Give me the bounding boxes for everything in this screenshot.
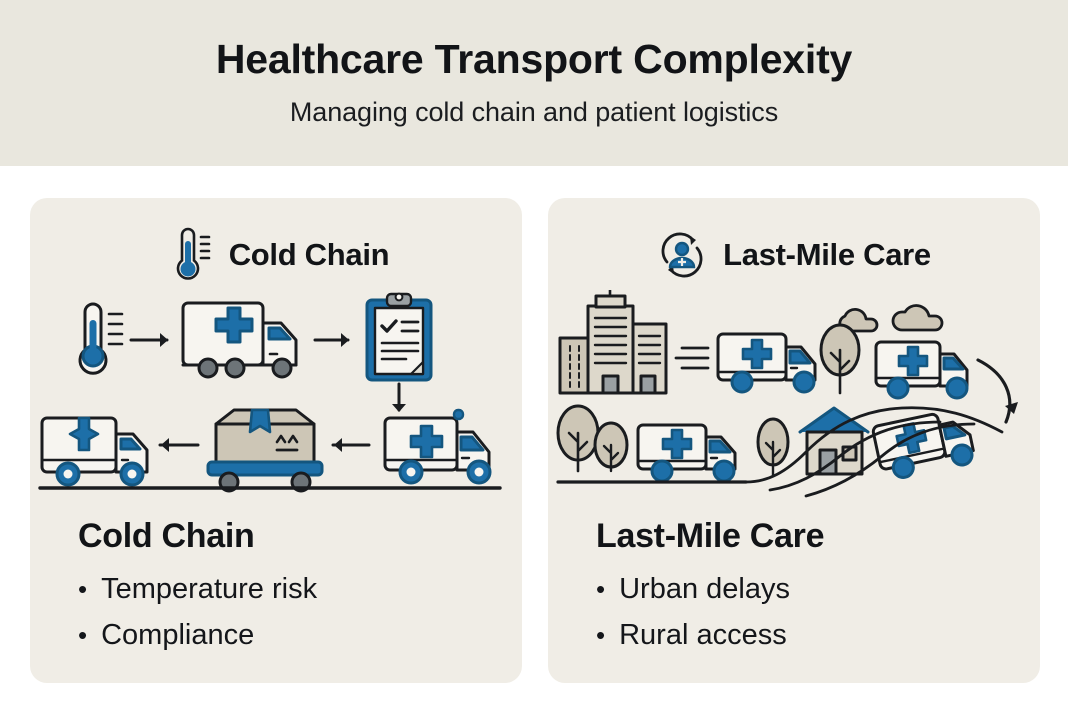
ambulance-icon [876, 342, 967, 398]
last-mile-illustration [548, 290, 1040, 502]
page-subtitle: Managing cold chain and patient logistic… [290, 97, 778, 128]
list-item: • Temperature risk [78, 567, 494, 613]
arrow-right-icon [315, 333, 349, 347]
ambulance-icon [638, 425, 735, 481]
city-buildings-icon [560, 290, 666, 393]
card-header-title: Last-Mile Care [723, 237, 931, 273]
page-title: Healthcare Transport Complexity [216, 38, 852, 81]
arrow-left-icon [160, 438, 198, 452]
card-header-title: Cold Chain [229, 237, 390, 273]
card-body-title: Last-Mile Care [596, 518, 1012, 555]
bullet-marker: • [78, 622, 87, 648]
list-item: • Rural access [596, 613, 1012, 659]
bullet-marker: • [596, 622, 605, 648]
card-cold-chain[interactable]: Cold Chain [30, 198, 522, 683]
speed-lines-icon [676, 348, 708, 368]
bullet-text: Rural access [619, 613, 787, 659]
bullet-marker: • [78, 576, 87, 602]
list-item: • Compliance [78, 613, 494, 659]
star-of-life-truck-icon [42, 418, 147, 485]
tree-icon [558, 406, 598, 471]
card-body-title: Cold Chain [78, 518, 494, 555]
thermometer-icon [163, 226, 213, 284]
ambulance-icon [872, 407, 976, 481]
ambulance-icon [385, 410, 490, 483]
bullet-marker: • [596, 576, 605, 602]
bullet-list: • Temperature risk • Compliance [78, 567, 494, 659]
page-header: Healthcare Transport Complexity Managing… [0, 0, 1068, 166]
tree-icon [758, 419, 788, 476]
curved-arrow-icon [978, 360, 1018, 422]
arrow-down-icon [392, 384, 406, 412]
bullet-list: • Urban delays • Rural access [596, 567, 1012, 659]
bullet-text: Urban delays [619, 567, 790, 613]
clipboard-check-icon [367, 294, 431, 380]
arrow-right-icon [131, 333, 168, 347]
patient-cycle-icon [657, 226, 707, 284]
package-on-cart-icon [208, 410, 322, 491]
card-last-mile-care[interactable]: Last-Mile Care [548, 198, 1040, 683]
cloud-icon [893, 306, 942, 330]
tree-icon [821, 325, 859, 393]
card-header-cold-chain: Cold Chain [30, 226, 522, 284]
thermometer-icon [80, 304, 122, 373]
ambulance-icon [718, 334, 815, 392]
cold-chain-illustration [30, 290, 522, 502]
list-item: • Urban delays [596, 567, 1012, 613]
bullet-text: Temperature risk [101, 567, 317, 613]
arrow-left-icon [333, 438, 369, 452]
cards-container: Cold Chain [0, 166, 1073, 720]
card-body-cold-chain: Cold Chain • Temperature risk • Complian… [78, 518, 494, 659]
tree-icon [595, 423, 627, 471]
card-header-last-mile-care: Last-Mile Care [548, 226, 1040, 284]
card-body-last-mile-care: Last-Mile Care • Urban delays • Rural ac… [596, 518, 1012, 659]
medical-box-truck-icon [183, 303, 296, 377]
bullet-text: Compliance [101, 613, 254, 659]
